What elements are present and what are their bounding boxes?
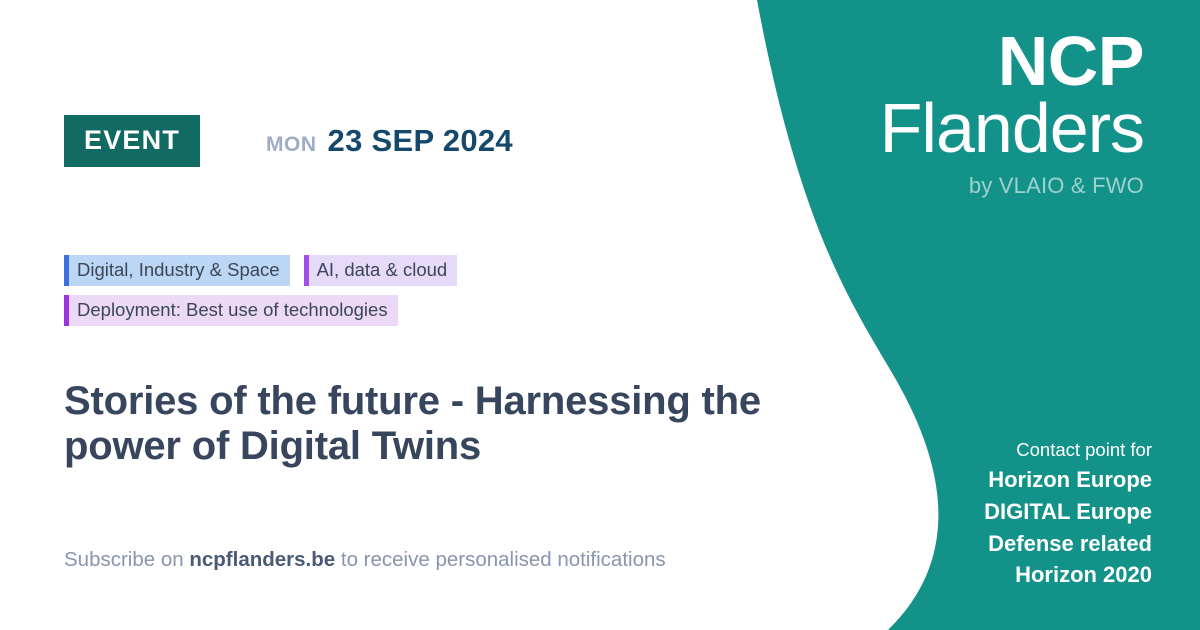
tag-label: AI, data & cloud [309, 255, 458, 286]
logo-line-ncp: NCP [880, 28, 1144, 95]
tag-list: Digital, Industry & Space AI, data & clo… [64, 255, 824, 335]
tag-row-1: Digital, Industry & Space AI, data & clo… [64, 255, 824, 286]
tag-digital-industry-space[interactable]: Digital, Industry & Space [64, 255, 290, 286]
contact-point-block: Contact point for Horizon Europe DIGITAL… [984, 437, 1152, 591]
tag-deployment-best-use[interactable]: Deployment: Best use of technologies [64, 295, 398, 326]
contact-program-digital-europe: DIGITAL Europe [984, 496, 1152, 528]
contact-program-defense-related: Defense related [984, 528, 1152, 560]
tag-ai-data-cloud[interactable]: AI, data & cloud [304, 255, 458, 286]
tag-row-2: Deployment: Best use of technologies [64, 295, 824, 326]
event-type-badge: EVENT [64, 115, 200, 167]
subscribe-prefix: Subscribe on [64, 548, 189, 571]
contact-program-horizon-2020: Horizon 2020 [984, 559, 1152, 591]
tag-label: Deployment: Best use of technologies [69, 295, 398, 326]
contact-program-horizon-europe: Horizon Europe [984, 464, 1152, 496]
event-poster: EVENT MON 23 SEP 2024 Digital, Industry … [0, 0, 1200, 630]
logo-line-flanders: Flanders [880, 93, 1144, 163]
subscribe-line: Subscribe on ncpflanders.be to receive p… [64, 550, 666, 571]
event-date: MON 23 SEP 2024 [266, 123, 513, 159]
subscribe-site-link[interactable]: ncpflanders.be [189, 548, 335, 571]
left-content-column: EVENT MON 23 SEP 2024 Digital, Industry … [64, 0, 864, 630]
event-date-dayofweek: MON [266, 133, 317, 157]
subscribe-suffix: to receive personalised notifications [335, 548, 665, 571]
event-date-value: 23 SEP 2024 [328, 123, 513, 159]
event-meta-row: EVENT MON 23 SEP 2024 [64, 115, 513, 167]
contact-point-lead: Contact point for [984, 437, 1152, 464]
ncp-flanders-logo: NCP Flanders by VLAIO & FWO [880, 28, 1144, 199]
event-title: Stories of the future - Harnessing the p… [64, 379, 854, 469]
logo-byline: by VLAIO & FWO [880, 173, 1144, 199]
tag-label: Digital, Industry & Space [69, 255, 290, 286]
